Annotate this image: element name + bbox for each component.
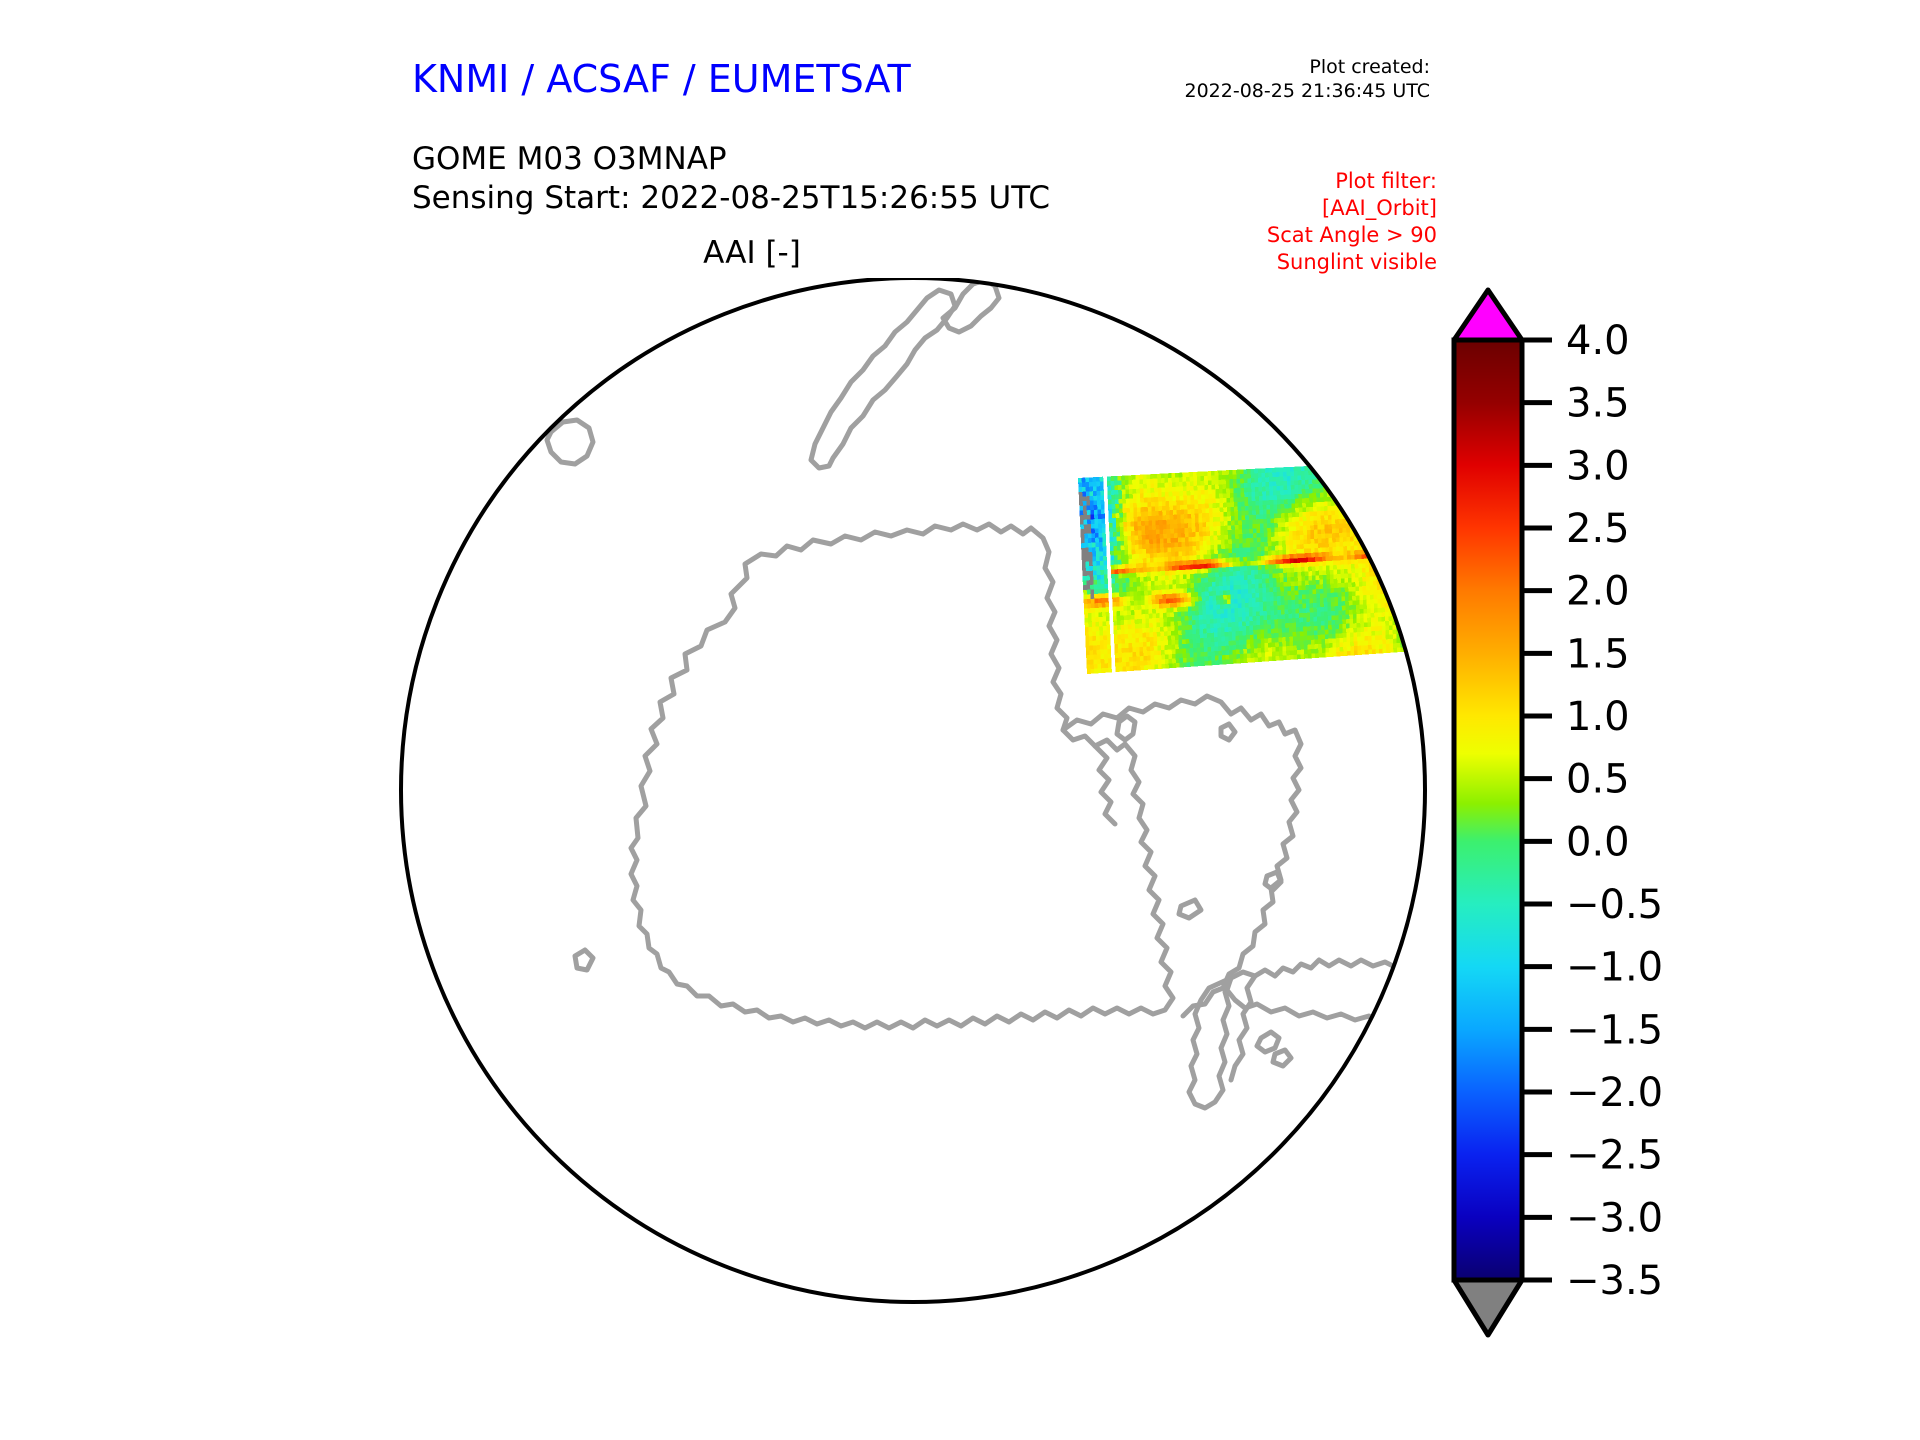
swath-pixel-group (1293, 636, 1297, 641)
swath-pixel-group (1257, 630, 1261, 635)
swath-pixel-group (1084, 534, 1088, 539)
swath-pixel-group (1095, 528, 1099, 533)
swath-pixel-group (1390, 552, 1394, 557)
colorbar-under-range-arrow (1454, 1280, 1522, 1335)
swath-pixel-group (1211, 563, 1215, 568)
swath-pixel-group (1401, 561, 1405, 566)
swath-pixel-group (1379, 549, 1383, 554)
colorbar-tick-label: 2.0 (1566, 569, 1630, 615)
colorbar-tick-label: −0.5 (1566, 882, 1663, 928)
swath-pixel-group (1308, 557, 1312, 562)
swath-pixel-group (1118, 569, 1122, 574)
swath-pixel-group (1415, 551, 1419, 556)
satellite-swath-data (1078, 460, 1429, 674)
swath-pixel-group (1085, 482, 1089, 487)
swath-pixel-group (1097, 510, 1101, 515)
swath-pixel-group (1401, 546, 1419, 561)
colorbar-gradient-bar (1454, 340, 1522, 1280)
swath-pixel-group (1100, 556, 1104, 561)
swath-pixel-group (1080, 511, 1084, 516)
swath-pixel-group (1379, 553, 1383, 558)
filter-scat-angle: Scat Angle > 90 (1267, 222, 1437, 249)
sensing-start: Sensing Start: 2022-08-25T15:26:55 UTC (412, 179, 1050, 218)
variable-title: AAI [-] (412, 235, 1092, 271)
swath-pixel-group (1354, 555, 1358, 560)
swath-pixel-group (1078, 478, 1082, 483)
swath-pixel-group (1089, 482, 1093, 487)
swath-pixel-group (1086, 491, 1090, 496)
swath-pixel-group (1097, 496, 1101, 501)
swath-pixel-group (1369, 463, 1373, 468)
plot-created-label: Plot created: (1185, 56, 1431, 80)
swath-pixel-group (1237, 589, 1241, 594)
swath-pixel-group (1186, 565, 1190, 570)
swath-pixel-group (1082, 478, 1086, 483)
swath-pixel-group (1372, 554, 1376, 559)
swath-pixel-group (1097, 505, 1101, 510)
polar-map (395, 278, 1445, 1328)
swath-pixel-group (1301, 558, 1305, 563)
swath-pixel-group (1271, 532, 1275, 537)
swath-pixel-group (1401, 552, 1405, 557)
colorbar-tick-label: −2.5 (1566, 1133, 1663, 1179)
swath-pixel-group (1272, 560, 1276, 565)
plot-filter-block: Plot filter: [AAI_Orbit] Scat Angle > 90… (1267, 168, 1437, 276)
swath-pixel-group (1089, 477, 1093, 482)
swath-pixel-group (1094, 514, 1098, 519)
colorbar-tick-label: −2.0 (1566, 1070, 1663, 1116)
swath-pixel-group (1103, 547, 1107, 552)
swath-pixel-group (1098, 598, 1102, 603)
colorbar-tick-label: 3.0 (1566, 443, 1630, 489)
swath-pixel-group (1179, 565, 1183, 570)
swath-pixel-group (1086, 487, 1090, 492)
swath-pixel-group (1316, 589, 1320, 594)
swath-pixel-group (1122, 569, 1126, 574)
swath-pixel-group (1098, 524, 1102, 529)
swath-pixel-group (1304, 558, 1308, 563)
swath-pixel-group (1109, 518, 1113, 523)
plot-page: KNMI / ACSAF / EUMETSAT Plot created: 20… (0, 0, 1920, 1440)
swath-pixel-group (1285, 628, 1289, 633)
swath-pixel-group (1388, 493, 1392, 498)
filter-label: Plot filter: (1267, 168, 1437, 195)
colorbar-tick-label: −1.0 (1566, 945, 1663, 991)
swath-pixel-group (1383, 553, 1387, 558)
colorbar-tick-label: 1.0 (1566, 694, 1630, 740)
swath-pixel-group (1215, 572, 1219, 577)
swath-pixel-group (1312, 580, 1316, 585)
swath-pixel-group (1096, 561, 1100, 566)
swath-pixel-group (1387, 553, 1391, 558)
swath-pixel-group (1208, 564, 1212, 569)
swath-pixel-group (1100, 495, 1104, 500)
swath-pixel-group (1232, 557, 1236, 562)
colorbar: 4.03.53.02.52.01.51.00.50.0−0.5−1.0−1.5−… (1440, 285, 1860, 1355)
swath-pixel-group (1183, 565, 1187, 570)
swath-pixel-group (1193, 560, 1197, 565)
swath-pixel-group (1093, 496, 1097, 501)
swath-pixel-group (1291, 503, 1295, 508)
swath-pixel-group (1419, 551, 1423, 556)
swath-pixel-group (1095, 533, 1099, 538)
swath-pixel-group (1247, 483, 1251, 488)
product-name: GOME M03 O3MNAP (412, 140, 1050, 179)
swath-pixel-group (1089, 487, 1093, 492)
swath-pixel-group (1096, 486, 1100, 491)
organisation-title: KNMI / ACSAF / EUMETSAT (412, 57, 911, 101)
swath-pixel-group (1101, 514, 1105, 519)
swath-pixel-group (1204, 564, 1208, 569)
swath-pixel-group (1098, 514, 1102, 519)
swath-pixel-group (1088, 538, 1092, 543)
swath-pixel-group (1297, 558, 1301, 563)
swath-pixel-group (1084, 520, 1088, 525)
swath-pixel-group (1322, 552, 1326, 557)
product-info-block: GOME M03 O3MNAP Sensing Start: 2022-08-2… (412, 140, 1050, 218)
swath-pixel-group (1405, 556, 1409, 561)
plot-created-time: 2022-08-25 21:36:45 UTC (1185, 80, 1431, 104)
swath-pixel-group (1276, 573, 1280, 578)
swath-pixel-group (1356, 495, 1360, 500)
swath-pixel-group (1376, 549, 1380, 554)
swath-pixel-group (1304, 553, 1308, 558)
swath-pixel-group (1245, 501, 1249, 506)
swath-pixel-group (1311, 557, 1315, 562)
colorbar-tick-label: 1.5 (1566, 631, 1630, 677)
swath-pixel-group (1241, 506, 1245, 511)
swath-pixel-group (1309, 498, 1313, 503)
swath-pixel-group (1108, 495, 1112, 500)
swath-pixel-group (1279, 559, 1283, 564)
swath-pixel-group (1397, 548, 1401, 553)
swath-pixel-group (1358, 554, 1362, 559)
colorbar-tick-label: 0.0 (1566, 819, 1630, 865)
swath-pixel-group (1162, 594, 1166, 599)
swath-pixel-group (1080, 525, 1084, 530)
swath-pixel-group (1412, 551, 1416, 556)
swath-pixel-group (1100, 486, 1104, 491)
swath-pixel-group (1390, 548, 1394, 553)
colorbar-tick-label: −3.0 (1566, 1195, 1663, 1241)
colorbar-over-range-arrow (1454, 290, 1522, 340)
swath-pixel-group (1404, 552, 1408, 557)
swath-pixel-group (1162, 599, 1166, 604)
swath-pixel-group (1093, 491, 1097, 496)
swath-pixel-group (1208, 568, 1212, 573)
swath-pixel-group (1078, 483, 1082, 488)
swath-pixel-group (1092, 547, 1096, 552)
swath-pixel-group (1323, 470, 1327, 475)
swath-pixel-group (1308, 553, 1312, 558)
colorbar-tick-label-group: 4.03.53.02.52.01.51.00.50.0−0.5−1.0−1.5−… (1566, 318, 1663, 1304)
swath-pixel-group (1091, 515, 1095, 520)
swath-pixel-group (1159, 525, 1163, 530)
swath-pixel-group (1283, 577, 1287, 582)
colorbar-tick-label: −1.5 (1566, 1007, 1663, 1053)
swath-pixel-group (1290, 467, 1294, 472)
swath-pixel-group (1331, 615, 1335, 620)
swath-pixel-group (1079, 506, 1083, 511)
swath-pixel-group (1283, 559, 1287, 564)
swath-pixel-group (1389, 634, 1393, 639)
swath-pixel-group (1319, 557, 1323, 562)
swath-pixel-group (1287, 476, 1291, 481)
swath-pixel-group (1089, 566, 1093, 571)
swath-pixel-group (1411, 642, 1415, 647)
colorbar-tick-label: 2.5 (1566, 506, 1630, 552)
swath-pixel-group (1087, 519, 1091, 524)
swath-pixel-group (1082, 482, 1086, 487)
swath-pixel-group (1094, 505, 1098, 510)
swath-pixel-group (1277, 504, 1281, 509)
swath-pixel-group (1209, 600, 1213, 605)
filter-dataset: [AAI_Orbit] (1267, 195, 1437, 222)
swath-pixel-group (1397, 552, 1401, 557)
swath-pixel-group (1411, 636, 1429, 651)
swath-pixel-group (1095, 542, 1099, 547)
swath-pixel-group (1290, 559, 1294, 564)
colorbar-tick-group (1524, 340, 1552, 1280)
colorbar-tick-label: 3.5 (1566, 381, 1630, 427)
swath-pixel-group (1083, 501, 1087, 506)
swath-pixel-group (1401, 547, 1405, 552)
swath-pixel-group (1408, 551, 1412, 556)
swath-pixel-group (1091, 529, 1095, 534)
swath-pixel-group (1220, 613, 1227, 618)
swath-pixel-group (1361, 554, 1365, 559)
swath-pixel-group (1291, 494, 1295, 499)
swath-pixel-group (1290, 554, 1294, 559)
coastline-australia-south (399, 372, 495, 418)
swath-pixel-group (1293, 558, 1297, 563)
colorbar-tick-label: 4.0 (1566, 318, 1630, 364)
swath-pixel-group (1084, 538, 1088, 543)
filter-sunglint: Sunglint visible (1267, 249, 1437, 276)
swath-pixel-group (1394, 552, 1398, 557)
plot-created-block: Plot created: 2022-08-25 21:36:45 UTC (1185, 56, 1431, 103)
colorbar-tick-label: −3.5 (1566, 1258, 1663, 1304)
swath-pixel-group (1093, 482, 1097, 487)
swath-pixel-group (1376, 553, 1380, 558)
swath-pixel-group (1097, 589, 1101, 594)
swath-pixel-group (1193, 564, 1200, 569)
swath-pixel-group (1341, 587, 1345, 592)
swath-pixel-group (1380, 467, 1384, 472)
swath-pixel-group (1166, 599, 1170, 604)
swath-pixel-group (1090, 505, 1094, 510)
swath-pixel-group (1091, 533, 1095, 538)
swath-pixel-group (1343, 542, 1347, 547)
swath-pixel-group (1082, 487, 1086, 492)
swath-pixel-group (1170, 617, 1174, 622)
swath-pixel-group (1108, 514, 1112, 519)
swath-pixel-group (1092, 552, 1096, 557)
colorbar-tick-label: 0.5 (1566, 757, 1630, 803)
swath-pixel-group (1099, 542, 1103, 547)
swath-pixel-group (1190, 565, 1194, 570)
swath-pixel-group (1103, 561, 1107, 566)
swath-pixel-group (1097, 575, 1101, 580)
